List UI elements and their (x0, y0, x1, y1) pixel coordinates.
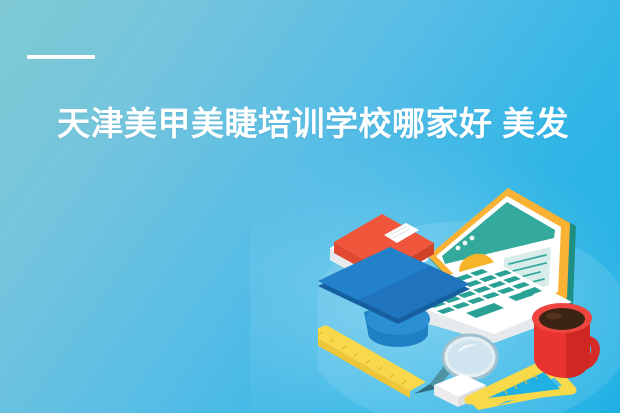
browser-dot-3 (470, 236, 475, 241)
page-title: 天津美甲美睫培训学校哪家好 美发 (57, 104, 617, 144)
coffee-glint (546, 313, 562, 319)
coffee-mug-group (532, 303, 600, 378)
education-illustration (318, 186, 620, 413)
decorative-rule (27, 55, 95, 59)
coffee-liquid (539, 308, 585, 330)
browser-dot-2 (463, 241, 468, 246)
browser-dot-1 (456, 246, 461, 251)
banner-card: 天津美甲美睫培训学校哪家好 美发 (0, 0, 620, 413)
